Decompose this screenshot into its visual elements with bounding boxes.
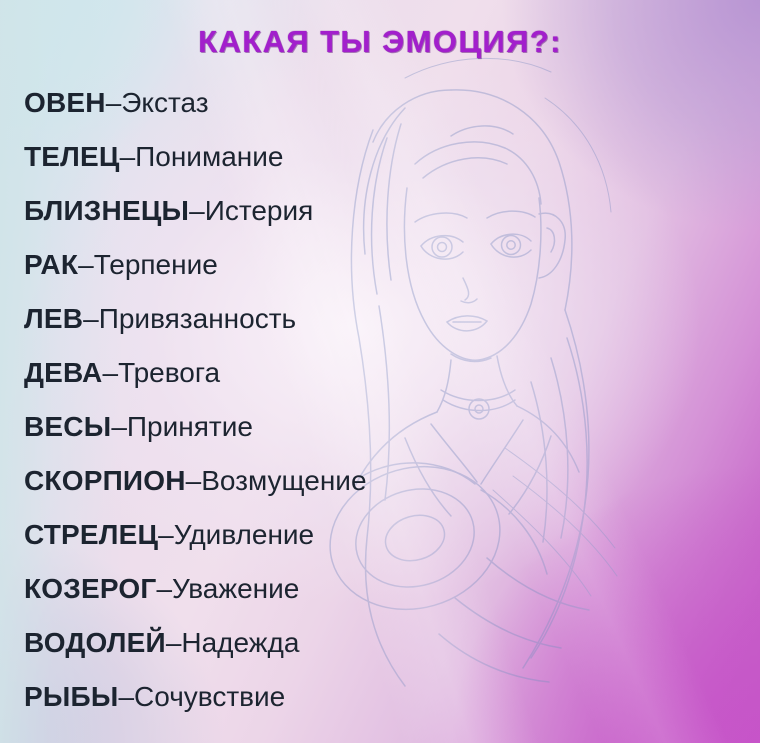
- separator-dash: –: [106, 87, 122, 118]
- emotion-label: Привязанность: [99, 303, 296, 334]
- list-item: СТРЕЛЕЦ–Удивление: [24, 508, 750, 562]
- separator-dash: –: [78, 249, 94, 280]
- list-item: РАК–Терпение: [24, 238, 750, 292]
- zodiac-sign-label: БЛИЗНЕЦЫ: [24, 195, 189, 226]
- emotion-label: Истерия: [205, 195, 314, 226]
- list-item: ВЕСЫ–Принятие: [24, 400, 750, 454]
- zodiac-emotion-list: ОВЕН–Экстаз ТЕЛЕЦ–Понимание БЛИЗНЕЦЫ–Ист…: [24, 76, 750, 724]
- zodiac-sign-label: ДЕВА: [24, 357, 102, 388]
- separator-dash: –: [83, 303, 99, 334]
- emotion-label: Возмущение: [201, 465, 366, 496]
- zodiac-sign-label: ОВЕН: [24, 87, 106, 118]
- list-item: ВОДОЛЕЙ–Надежда: [24, 616, 750, 670]
- separator-dash: –: [111, 411, 127, 442]
- separator-dash: –: [189, 195, 205, 226]
- separator-dash: –: [118, 681, 134, 712]
- separator-dash: –: [156, 573, 172, 604]
- emotion-label: Терпение: [94, 249, 218, 280]
- emotion-label: Понимание: [135, 141, 283, 172]
- emotion-label: Принятие: [127, 411, 253, 442]
- emotion-label: Экстаз: [121, 87, 208, 118]
- list-item: ДЕВА–Тревога: [24, 346, 750, 400]
- emotion-label: Тревога: [118, 357, 220, 388]
- poster-canvas: КАКАЯ ТЫ ЭМОЦИЯ?: ОВЕН–Экстаз ТЕЛЕЦ–Пони…: [0, 0, 760, 743]
- list-item: КОЗЕРОГ–Уважение: [24, 562, 750, 616]
- zodiac-sign-label: СКОРПИОН: [24, 465, 186, 496]
- list-item: ОВЕН–Экстаз: [24, 76, 750, 130]
- emotion-label: Удивление: [174, 519, 314, 550]
- zodiac-sign-label: ЛЕВ: [24, 303, 83, 334]
- zodiac-sign-label: РАК: [24, 249, 78, 280]
- emotion-label: Сочувствие: [134, 681, 285, 712]
- list-item: СКОРПИОН–Возмущение: [24, 454, 750, 508]
- separator-dash: –: [166, 627, 182, 658]
- zodiac-sign-label: КОЗЕРОГ: [24, 573, 156, 604]
- emotion-label: Уважение: [172, 573, 299, 604]
- zodiac-sign-label: РЫБЫ: [24, 681, 118, 712]
- zodiac-sign-label: ВЕСЫ: [24, 411, 111, 442]
- emotion-label: Надежда: [181, 627, 299, 658]
- list-item: ЛЕВ–Привязанность: [24, 292, 750, 346]
- separator-dash: –: [120, 141, 136, 172]
- list-item: ТЕЛЕЦ–Понимание: [24, 130, 750, 184]
- separator-dash: –: [158, 519, 174, 550]
- separator-dash: –: [102, 357, 118, 388]
- page-title: КАКАЯ ТЫ ЭМОЦИЯ?:: [0, 24, 760, 60]
- separator-dash: –: [186, 465, 202, 496]
- list-item: БЛИЗНЕЦЫ–Истерия: [24, 184, 750, 238]
- poster-content: КАКАЯ ТЫ ЭМОЦИЯ?: ОВЕН–Экстаз ТЕЛЕЦ–Пони…: [0, 0, 760, 743]
- zodiac-sign-label: СТРЕЛЕЦ: [24, 519, 158, 550]
- list-item: РЫБЫ–Сочувствие: [24, 670, 750, 724]
- zodiac-sign-label: ВОДОЛЕЙ: [24, 627, 166, 658]
- zodiac-sign-label: ТЕЛЕЦ: [24, 141, 120, 172]
